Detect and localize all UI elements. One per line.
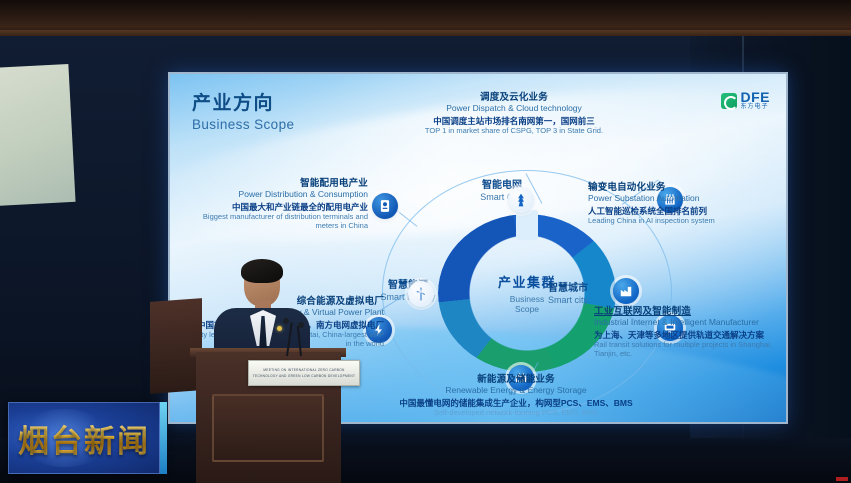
callout-heading-en: Power Distribution & Consumption (178, 189, 368, 199)
video-frame: 产业方向 Business Scope DFE 东方电子 产业集群 (0, 0, 851, 483)
callout-sub-en: Rail transit solutions for multiple proj… (594, 340, 786, 358)
node-label-cn: 智慧城市 (520, 283, 616, 295)
callout-heading-cn: 调度及云化业务 (394, 92, 634, 103)
callout-sub-en: TOP 1 in market share of CSPG, TOP 3 in … (394, 126, 634, 135)
factory-icon (613, 278, 639, 304)
channel-bug-text: 烟台新闻 (18, 416, 150, 461)
callout-heading-en: Industrial Internet & Intelligent Manufa… (594, 317, 786, 327)
callout-heading-en: Renewable Energy & Energy Storage (366, 385, 666, 395)
podium-side (150, 298, 202, 394)
recording-indicator-icon (836, 477, 848, 481)
callout-sub-cn: 中国最大和产业链最全的配用电产业 (178, 202, 368, 212)
callout-sub-en: Self-developed network-forming PCS, EMS,… (366, 408, 666, 417)
callout-sub-cn: 为上海、天津等多地区提供轨道交通解决方案 (594, 330, 786, 340)
channel-bug-edge (160, 402, 167, 474)
slide-title-cn: 产业方向 (192, 88, 294, 115)
node-label-en: Smart city (520, 295, 616, 305)
channel-bug: 烟台新闻 (8, 402, 160, 474)
callout-sub-cn: 中国调度主站市场排名南网第一，国网前三 (394, 116, 634, 126)
callout-sub-cn: 人工智能巡检系统全国排名前列 (588, 206, 784, 216)
ring-gap-top (516, 210, 538, 240)
left-wall-panel (0, 64, 76, 206)
dfe-logo-cn: 东方电子 (741, 104, 771, 111)
microphone-icon (298, 322, 304, 328)
microphone-icon (283, 318, 289, 324)
callout-heading-en: Power Dispatch & Cloud technology (394, 103, 634, 113)
podium-front-panel (212, 394, 324, 462)
callout-sub-cn: 中国最懂电网的储能集成生产企业，构网型PCS、EMS、BMS (366, 398, 666, 408)
podium-sign-line2: TECHNOLOGY AND GREEN LOW CARBON DEVELOPM… (253, 374, 355, 378)
speaker-hair (241, 259, 283, 283)
distribution-meter-icon (372, 193, 398, 219)
dfe-logo-latin: DFE (741, 90, 771, 104)
callout-sub-en: Leading China in AI inspection system (588, 216, 784, 225)
callout-heading-cn: 新能源及储能业务 (366, 374, 666, 385)
dfe-logo: DFE 东方电子 (721, 90, 771, 111)
podium-sign-line1: MEETING ON INTERNATIONAL ZERO CARBON (263, 368, 344, 372)
callout-industrial-internet: 工业互联网及智能制造 Industrial Internet & Intelli… (594, 306, 786, 358)
callout-heading-cn: 输变电自动化业务 (588, 182, 784, 193)
slide-title-en: Business Scope (192, 117, 294, 132)
callout-renewable-storage: 新能源及储能业务 Renewable Energy & Energy Stora… (366, 374, 666, 417)
hub-title-en-2: Scope (515, 304, 539, 314)
callout-heading-cn: 工业互联网及智能制造 (594, 306, 786, 317)
wind-turbine-icon (408, 281, 434, 307)
dfe-logo-text: DFE 东方电子 (741, 90, 771, 111)
ring-node-smart-grid: 智能电网 Smart Grid (442, 180, 562, 202)
ring-node-smart-city: 智慧城市 Smart city (520, 283, 616, 305)
node-label-en: Smart Grid (442, 192, 562, 202)
callout-substation-automation: 输变电自动化业务 Power Substation Automation 人工智… (588, 182, 784, 225)
callout-sub-en: Biggest manufacturer of distribution ter… (178, 212, 368, 230)
callout-heading-cn: 智能配用电产业 (178, 178, 368, 189)
callout-power-dispatch: 调度及云化业务 Power Dispatch & Cloud technolog… (394, 92, 634, 135)
node-label-cn: 智能电网 (442, 180, 562, 192)
slide-title: 产业方向 Business Scope (192, 88, 294, 132)
dfe-leaf-icon (721, 93, 737, 109)
callout-power-distribution: 智能配用电产业 Power Distribution & Consumption… (178, 178, 368, 230)
callout-heading-en: Power Substation Automation (588, 193, 784, 203)
podium-nameplate: MEETING ON INTERNATIONAL ZERO CARBON TEC… (248, 360, 360, 386)
speaker-lapel-pin-icon (277, 326, 282, 331)
transmission-tower-icon (508, 187, 534, 213)
